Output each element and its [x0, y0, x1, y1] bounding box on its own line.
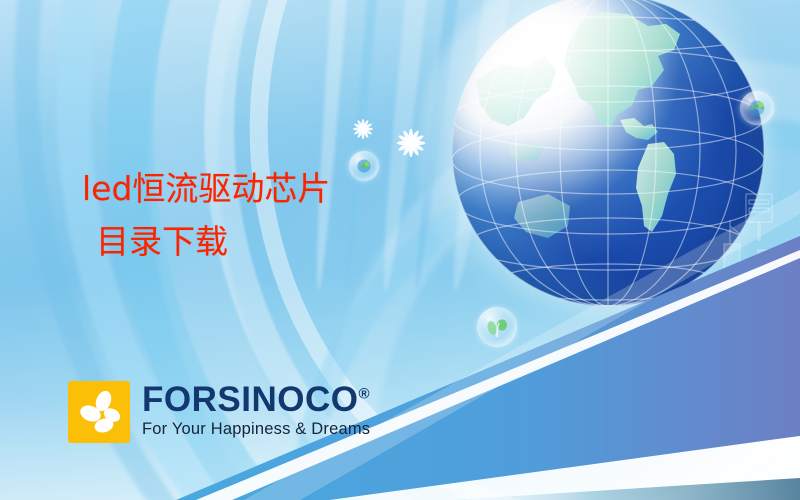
registered-trademark-symbol: ® [358, 385, 370, 402]
globe-latitude-lines [452, 17, 764, 300]
continent-north-america [564, 12, 680, 128]
headline-line-1: led恒流驱动芯片 [82, 162, 422, 215]
company-logo[interactable]: FORSINOCO® For Your Happiness & Dreams [68, 381, 370, 443]
continent-central-america [620, 118, 658, 140]
brand-tagline: For Your Happiness & Dreams [142, 420, 370, 439]
bubble-leaf [477, 307, 517, 347]
headline-block: led恒流驱动芯片 目录下载 [82, 162, 422, 269]
headline-line-2: 目录下载 [82, 215, 422, 268]
city-skyline-silhouette [650, 180, 800, 380]
continent-southeast-asia [510, 140, 544, 162]
four-petal-flower-mark [68, 381, 130, 443]
logo-text-block: FORSINOCO® For Your Happiness & Dreams [142, 381, 370, 439]
starburst-flower-large [396, 128, 426, 163]
flower-petals-icon [74, 387, 124, 437]
starburst-flower-small [352, 118, 374, 145]
bubble-globe-right [740, 91, 774, 125]
globe-surface-svg [452, 0, 764, 306]
globe-specular-highlight [452, 0, 764, 306]
ribbon-white-band [330, 436, 800, 500]
continent-south-america [636, 142, 676, 232]
brand-word: FORSINOCO [142, 380, 358, 419]
ribbon-blue-band [176, 236, 800, 500]
ribbon-dark-band [452, 478, 800, 500]
ribbon-white-pinstripe [196, 250, 800, 500]
continent-asia [476, 56, 556, 126]
light-streak-5 [443, 0, 515, 290]
promo-banner: led恒流驱动芯片 目录下载 FORSINOCO® For Your Happi… [0, 0, 800, 500]
globe-longitude-lines [452, 0, 764, 306]
globe-halo [418, 0, 798, 340]
continent-australia [514, 194, 570, 238]
brand-name: FORSINOCO® [142, 383, 370, 417]
earth-globe [452, 0, 764, 306]
globe-sphere [452, 0, 764, 306]
